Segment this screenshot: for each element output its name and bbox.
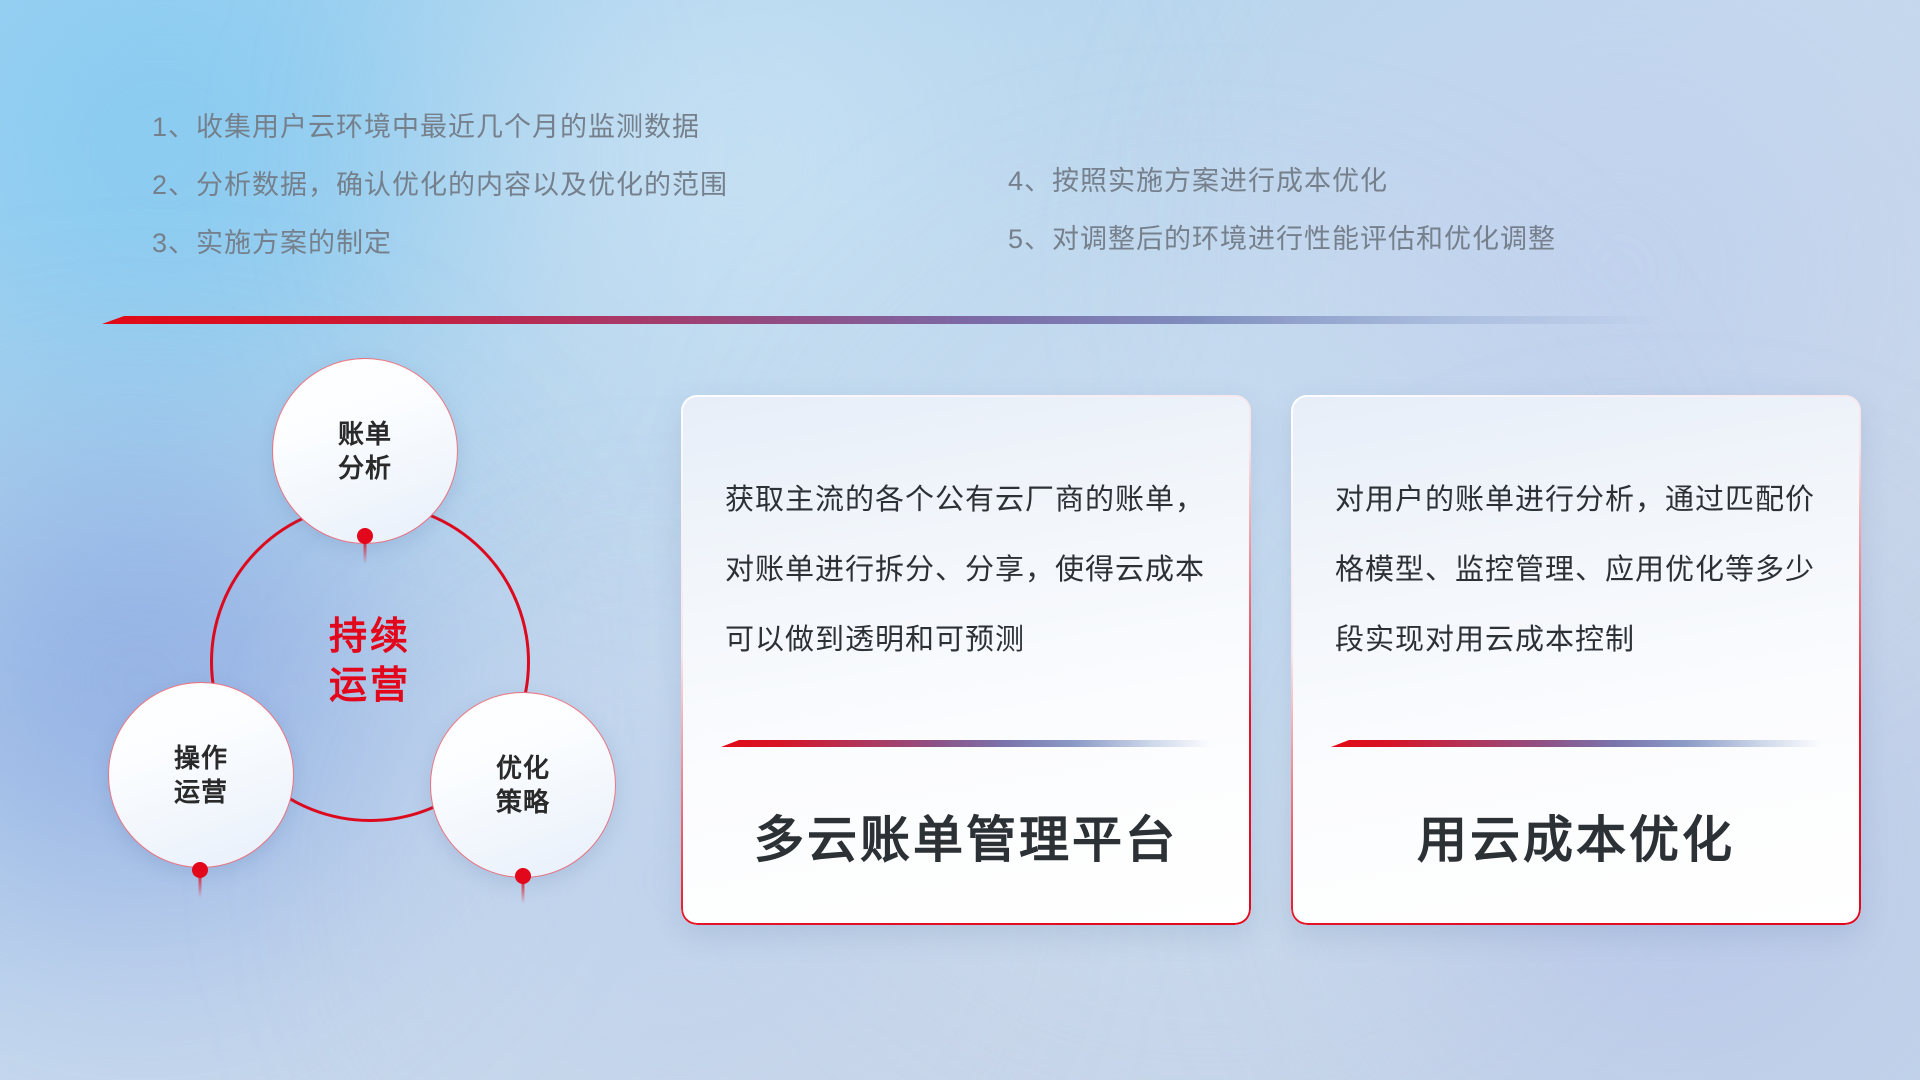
venn-lobe-operations[interactable]: 操作 运营 [108,682,294,868]
venn-center-line-1: 持续 [329,613,411,662]
card-divider-line [1331,740,1821,747]
card-title: 多云账单管理平台 [681,800,1251,872]
venn-node-dot-right [515,868,531,884]
venn-lobe-left-line-2: 运营 [174,775,228,809]
steps-list-right: 4、按照实施方案进行成本优化 5、对调整后的环境进行性能评估和优化调整 [1008,152,1556,268]
steps-list-left: 1、收集用户云环境中最近几个月的监测数据 2、分析数据，确认优化的内容以及优化的… [152,98,728,272]
step-item-1: 1、收集用户云环境中最近几个月的监测数据 [152,98,728,156]
section-divider-line [102,316,1662,324]
venn-diagram: 持续 运营 账单 分析 操作 运营 优化 策略 [100,352,660,952]
venn-node-dot-top [357,528,373,544]
info-card-multicloud-billing[interactable]: 获取主流的各个公有云厂商的账单，对账单进行拆分、分享，使得云成本可以做到透明和可… [681,395,1251,925]
venn-lobe-left-line-1: 操作 [174,741,228,775]
step-item-5: 5、对调整后的环境进行性能评估和优化调整 [1008,210,1556,268]
venn-lobe-optimization-strategy[interactable]: 优化 策略 [430,692,616,878]
info-card-cloud-cost-optimization[interactable]: 对用户的账单进行分析，通过匹配价格模型、监控管理、应用优化等多少段实现对用云成本… [1291,395,1861,925]
venn-center-line-2: 运营 [329,662,411,711]
venn-node-dot-left [192,862,208,878]
step-item-3: 3、实施方案的制定 [152,214,728,272]
card-divider-line [721,740,1211,747]
card-body-text: 对用户的账单进行分析，通过匹配价格模型、监控管理、应用优化等多少段实现对用云成本… [1335,465,1825,675]
venn-lobe-top-line-1: 账单 [338,417,392,451]
step-item-4: 4、按照实施方案进行成本优化 [1008,152,1556,210]
venn-lobe-right-line-1: 优化 [496,751,550,785]
card-title: 用云成本优化 [1291,800,1861,872]
venn-lobe-billing-analysis[interactable]: 账单 分析 [272,358,458,544]
venn-lobe-top-line-2: 分析 [338,451,392,485]
step-item-2: 2、分析数据，确认优化的内容以及优化的范围 [152,156,728,214]
venn-lobe-right-line-2: 策略 [496,785,550,819]
card-body-text: 获取主流的各个公有云厂商的账单，对账单进行拆分、分享，使得云成本可以做到透明和可… [725,465,1215,675]
